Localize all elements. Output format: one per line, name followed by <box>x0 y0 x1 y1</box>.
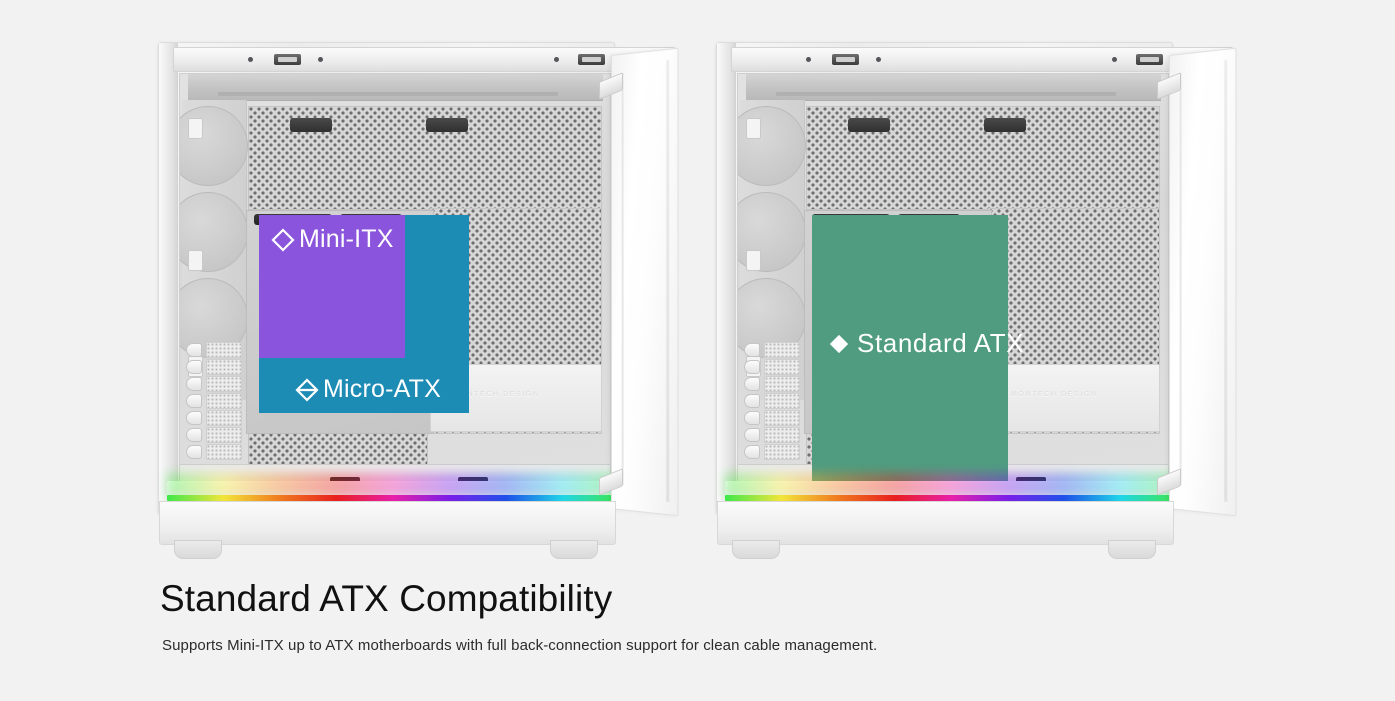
fan-bracket-tab-2 <box>188 250 203 271</box>
pcie-thumbscrew-3 <box>744 377 760 391</box>
pcie-thumbscrew-4 <box>744 394 760 408</box>
pcie-thumbscrew-2 <box>186 360 202 374</box>
case-interior-cavity: MONTECH DESIGNStandard ATX <box>737 73 1169 500</box>
case-top-bar <box>731 47 1233 72</box>
pcie-slot-cover-4 <box>206 393 242 409</box>
side-glass-panel[interactable] <box>1169 48 1236 517</box>
page-subtitle: Supports Mini-ITX up to ATX motherboards… <box>162 637 877 654</box>
chassis-screw-2 <box>876 57 881 62</box>
shroud-brand-emboss: MONTECH DESIGN <box>1011 391 1098 398</box>
standard-atx-diamond-icon <box>828 333 850 355</box>
pcie-slot-cover-1 <box>764 342 800 358</box>
top-bracket-clip-2 <box>578 54 605 65</box>
chassis-screw-3 <box>1112 57 1117 62</box>
pcie-thumbscrew-1 <box>744 343 760 357</box>
side-glass-panel[interactable] <box>611 48 678 517</box>
pcie-thumbscrew-5 <box>186 411 202 425</box>
pcie-thumbscrew-4 <box>186 394 202 408</box>
overlay-label-text: Standard ATX <box>857 328 1024 359</box>
pcie-slot-cover-2 <box>764 359 800 375</box>
chassis-left-rail <box>717 43 736 513</box>
chassis-left-rail <box>159 43 178 513</box>
case-base-plinth <box>159 501 616 545</box>
top-vent-slot-2 <box>984 118 1026 132</box>
case-interior-cavity: MONTECH DESIGNMicro-ATXMini-ITX <box>179 73 611 500</box>
overlay-label-micro-atx: Micro-ATX <box>295 375 441 404</box>
fan-bracket-tab-1 <box>746 118 761 139</box>
pcie-thumbscrew-7 <box>186 445 202 459</box>
chassis-screw-3 <box>554 57 559 62</box>
top-bracket-clip-1 <box>832 54 859 65</box>
top-bracket-clip-2 <box>1136 54 1163 65</box>
case-top-bar <box>173 47 675 72</box>
pc-case-left: MONTECH DESIGNMicro-ATXMini-ITX <box>158 42 678 560</box>
pcie-slot-zone <box>184 342 246 466</box>
caption-block: Standard ATX Compatibility Supports Mini… <box>160 578 877 654</box>
pcie-thumbscrew-2 <box>744 360 760 374</box>
pcie-thumbscrew-6 <box>744 428 760 442</box>
case-foot-right <box>1108 540 1156 559</box>
pcie-slot-cover-4 <box>764 393 800 409</box>
chassis-screw-1 <box>806 57 811 62</box>
page-title: Standard ATX Compatibility <box>160 578 877 620</box>
pcie-slot-cover-6 <box>206 427 242 443</box>
overlay-label-text: Micro-ATX <box>323 375 441 404</box>
chassis-screw-2 <box>318 57 323 62</box>
mini-itx-diamond-icon <box>271 228 295 252</box>
pcie-slot-cover-1 <box>206 342 242 358</box>
pcie-thumbscrew-1 <box>186 343 202 357</box>
pcie-slot-cover-5 <box>764 410 800 426</box>
chassis-screw-1 <box>248 57 253 62</box>
pcie-slot-cover-6 <box>764 427 800 443</box>
fan-bracket-tab-2 <box>746 250 761 271</box>
pcie-thumbscrew-3 <box>186 377 202 391</box>
top-bracket-clip-1 <box>274 54 301 65</box>
pcie-thumbscrew-6 <box>186 428 202 442</box>
micro-atx-diamond-icon <box>295 378 319 402</box>
pcie-slot-cover-5 <box>206 410 242 426</box>
overlay-label-text: Mini-ITX <box>299 225 394 254</box>
case-base-plinth <box>717 501 1174 545</box>
case-chassis: MONTECH DESIGNStandard ATX <box>716 42 1173 514</box>
case-foot-left <box>732 540 780 559</box>
case-chassis: MONTECH DESIGNMicro-ATXMini-ITX <box>158 42 615 514</box>
pcie-thumbscrew-5 <box>744 411 760 425</box>
pc-case-right: MONTECH DESIGNStandard ATX <box>716 42 1236 560</box>
pcie-slot-zone <box>742 342 804 466</box>
pcie-slot-cover-3 <box>764 376 800 392</box>
pcie-thumbscrew-7 <box>744 445 760 459</box>
overlay-label-mini-itx: Mini-ITX <box>271 225 394 254</box>
product-feature-graphic: MONTECH DESIGNMicro-ATXMini-ITX MONTECH … <box>0 0 1395 701</box>
case-foot-left <box>174 540 222 559</box>
interior-roof-lip <box>746 74 1161 101</box>
top-vent-slot-1 <box>848 118 890 132</box>
case-foot-right <box>550 540 598 559</box>
top-vent-slot-2 <box>426 118 468 132</box>
overlay-label-standard-atx: Standard ATX <box>828 328 1024 359</box>
interior-roof-lip <box>188 74 603 101</box>
fan-bracket-tab-1 <box>188 118 203 139</box>
top-vent-slot-1 <box>290 118 332 132</box>
psu-shroud: MONTECH DESIGN <box>988 364 1160 432</box>
pcie-slot-cover-7 <box>764 444 800 460</box>
pcie-slot-cover-2 <box>206 359 242 375</box>
pcie-slot-cover-7 <box>206 444 242 460</box>
pcie-slot-cover-3 <box>206 376 242 392</box>
